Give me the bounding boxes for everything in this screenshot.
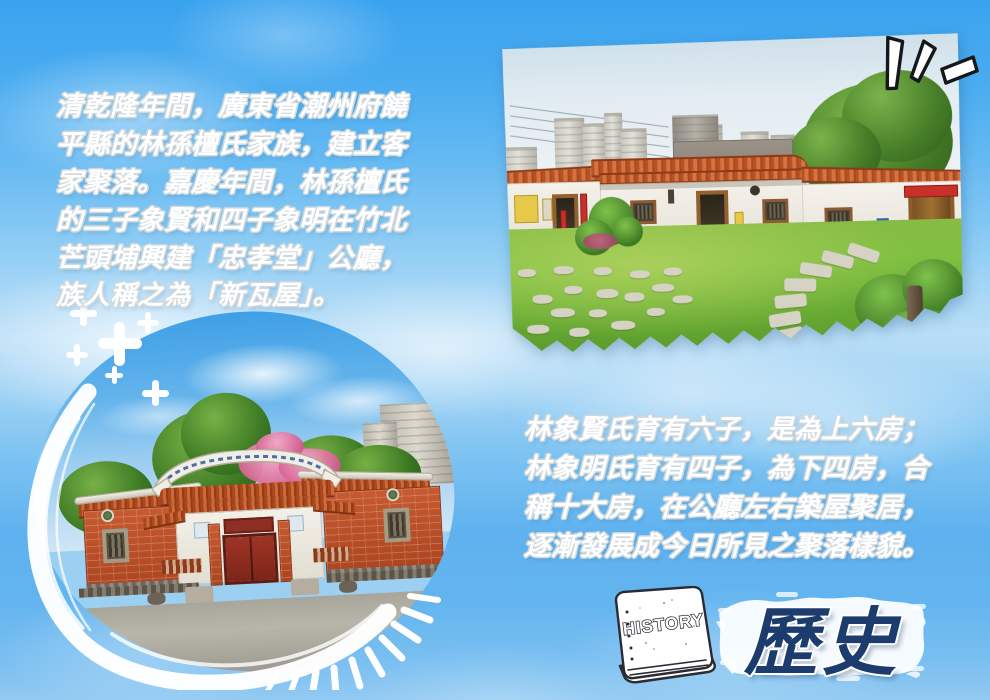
sparkle-plus: [105, 366, 123, 384]
notice-board: [542, 198, 553, 220]
main-window: [762, 199, 789, 224]
wall-lamp: [668, 189, 674, 203]
spark-marks: [876, 32, 980, 110]
spark-mark: [911, 41, 936, 84]
ray: [334, 668, 336, 690]
ray: [312, 672, 316, 690]
sparkle-plus: [66, 344, 88, 366]
ray: [394, 624, 418, 640]
history-title-block: 歷史: [716, 588, 928, 684]
sparkle-plus: [142, 380, 169, 406]
ray: [404, 610, 430, 620]
poster-canvas: 清乾隆年間，廣東省潮州府饒 平縣的林孫檀氏家族，建立客 家聚落。嘉慶年間，林孫檀…: [0, 0, 990, 700]
notice-board: [514, 195, 539, 224]
ray: [368, 650, 382, 674]
spark-mark: [941, 57, 978, 83]
spark-mark: [884, 38, 903, 90]
ray: [352, 660, 360, 686]
ray: [382, 638, 402, 658]
sparkle-plus: [98, 322, 142, 366]
history-title-text: 歷史: [716, 588, 928, 684]
ray: [410, 596, 438, 600]
history-book-icon: HISTORY: [602, 586, 724, 686]
history-origin-text: 清乾隆年間，廣東省潮州府饒 平縣的林孫檀氏家族，建立客 家聚落。嘉慶年間，林孫檀…: [56, 88, 438, 315]
red-banner: [904, 185, 958, 198]
family-branches-text: 林象賢氏育有六子，是為上六房； 林象明氏育有四子，為下四房，合 稱十大房，在公廳…: [524, 410, 976, 566]
tree-stump: [906, 285, 923, 329]
